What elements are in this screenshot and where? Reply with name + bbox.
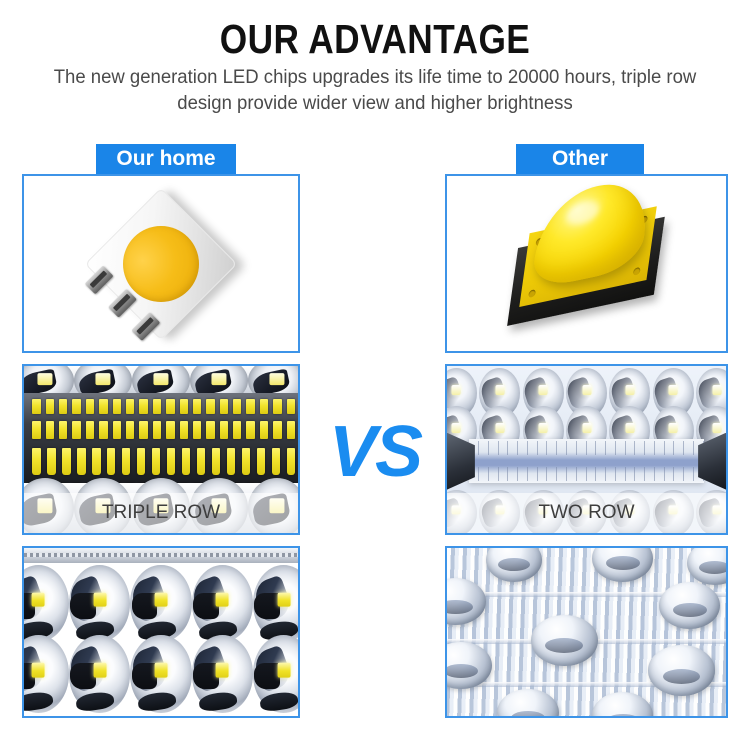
banner-other: Other (516, 144, 644, 174)
reflector-cup-row (24, 565, 298, 642)
reflector-strip-top (24, 366, 298, 396)
panel-our-home-led-chip (22, 174, 300, 353)
smd-led-chip-photo (24, 176, 298, 351)
reflector-cup (69, 565, 130, 642)
housing-edge (24, 548, 298, 563)
smd-contact-pad (131, 312, 160, 341)
triple-row-reflector-cups-photo (24, 548, 298, 716)
page-title: OUR ADVANTAGE (53, 16, 698, 62)
reflector-cup (24, 565, 69, 642)
dome-led-chip-photo (447, 176, 726, 351)
banner-our-home: Our home (96, 144, 236, 174)
reflector-cup (192, 635, 253, 712)
lens-bump (531, 615, 598, 665)
reflector-cup-row (24, 635, 298, 712)
panel-our-home-reflector-cups (22, 546, 300, 718)
caption-triple-row: TRIPLE ROW (24, 493, 298, 533)
smd-contact-pad (108, 288, 137, 317)
smd-contact-pad (85, 265, 114, 294)
two-row-reflector-surface-photo (447, 548, 726, 716)
led-pcb-strip (469, 439, 703, 482)
led-chip-row (32, 448, 295, 475)
caption-two-row: TWO ROW (447, 493, 726, 533)
lens-bump (659, 582, 720, 629)
vs-label: VS (325, 414, 425, 490)
smd-chip-body (85, 187, 238, 340)
panel-other-led-chip (445, 174, 728, 353)
reflector-cup (130, 635, 191, 712)
lens-bump (648, 645, 715, 695)
high-power-led-body (512, 218, 662, 310)
led-chip-row (32, 421, 295, 439)
smd-ceramic-body (85, 187, 238, 340)
reflector-cup (253, 565, 298, 642)
led-chip-row (32, 399, 295, 414)
reflector-cup (192, 565, 253, 642)
reflector-cup (130, 565, 191, 642)
panel-our-home-triple-row: TRIPLE ROW (22, 364, 300, 535)
panel-other-reflector-surface (445, 546, 728, 718)
page-subtitle: The new generation LED chips upgrades it… (43, 64, 708, 116)
infographic-page: OUR ADVANTAGE The new generation LED chi… (0, 0, 750, 750)
reflector-cup (69, 635, 130, 712)
panel-other-two-row: TWO ROW (445, 364, 728, 535)
reflector-cup (253, 635, 298, 712)
reflector-cup (24, 635, 69, 712)
